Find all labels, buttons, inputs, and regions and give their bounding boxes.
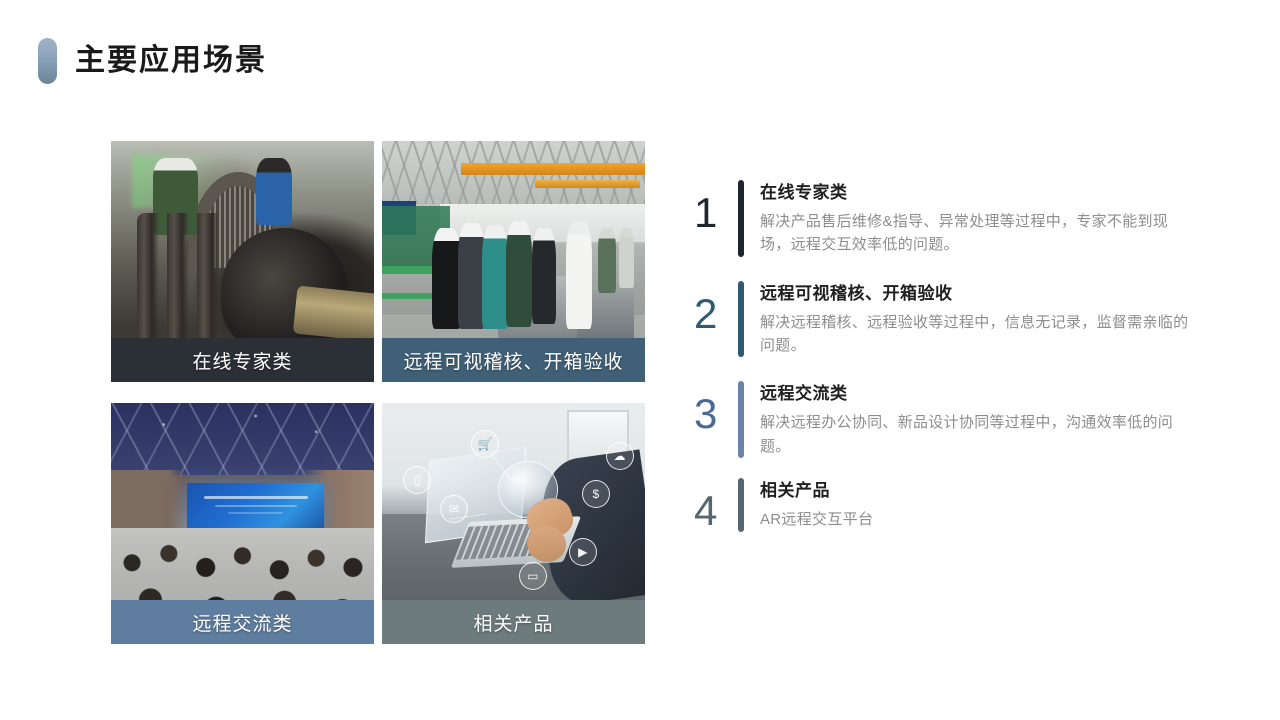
scenario-tile-grid: 在线专家类 xyxy=(111,141,645,644)
phone-icon: ▯ xyxy=(403,466,431,494)
list-title-4: 相关产品 xyxy=(760,480,1214,502)
list-desc-3: 解决远程办公协同、新品设计协同等过程中，沟通效率低的问题。 xyxy=(760,411,1190,458)
list-title-1: 在线专家类 xyxy=(760,182,1214,204)
worker-figure xyxy=(256,158,293,225)
hall-ceiling xyxy=(111,403,374,475)
list-title-3: 远程交流类 xyxy=(760,383,1214,405)
scenario-tile-2[interactable]: 远程可视稽核、开箱验收 xyxy=(382,141,645,382)
list-number-1: 1 xyxy=(694,180,738,234)
cloud-icon: ☁ xyxy=(606,442,634,470)
list-desc-1: 解决产品售后维修&指导、异常处理等过程中，专家不能到现场，远程交互效率低的问题。 xyxy=(760,210,1190,257)
list-accent-bar-2 xyxy=(738,281,744,358)
page-title: 主要应用场景 xyxy=(75,46,267,76)
list-number-3: 3 xyxy=(694,381,738,435)
list-number-2: 2 xyxy=(694,281,738,335)
tile-caption-4: 相关产品 xyxy=(382,600,645,644)
list-accent-bar-3 xyxy=(738,381,744,458)
tile-caption-3: 远程交流类 xyxy=(111,600,374,644)
list-item-1: 1 在线专家类 解决产品售后维修&指导、异常处理等过程中，专家不能到现场，远程交… xyxy=(694,180,1214,257)
list-desc-2: 解决远程稽核、远程验收等过程中，信息无记录，监督需亲临的问题。 xyxy=(760,311,1190,358)
list-item-4: 4 相关产品 AR远程交互平台 xyxy=(694,478,1214,532)
scenario-tile-4[interactable]: 🛒 ☁ ✉ $ ▯ ▶ ▭ 相关产品 xyxy=(382,403,645,644)
worker-figure xyxy=(153,158,198,235)
page-header: 主要应用场景 xyxy=(38,38,267,84)
list-item-2: 2 远程可视稽核、开箱验收 解决远程稽核、远程验收等过程中，信息无记录，监督需亲… xyxy=(694,281,1214,358)
cart-icon: 🛒 xyxy=(471,430,499,458)
scenario-tile-1[interactable]: 在线专家类 xyxy=(111,141,374,382)
list-accent-bar-1 xyxy=(738,180,744,257)
turbine-shaft xyxy=(293,286,374,343)
dollar-icon: $ xyxy=(582,480,610,508)
list-number-4: 4 xyxy=(694,478,738,532)
mail-icon: ✉ xyxy=(440,495,468,523)
list-title-2: 远程可视稽核、开箱验收 xyxy=(760,283,1214,305)
tile-caption-1: 在线专家类 xyxy=(111,338,374,382)
play-icon: ▶ xyxy=(569,538,597,566)
list-desc-4: AR远程交互平台 xyxy=(760,508,1190,531)
tile-caption-2: 远程可视稽核、开箱验收 xyxy=(382,338,645,382)
pill-bullet-icon xyxy=(38,38,57,84)
scenario-description-list: 1 在线专家类 解决产品售后维修&指导、异常处理等过程中，专家不能到现场，远程交… xyxy=(694,180,1214,550)
list-item-3: 3 远程交流类 解决远程办公协同、新品设计协同等过程中，沟通效率低的问题。 xyxy=(694,381,1214,458)
list-accent-bar-4 xyxy=(738,478,744,532)
monitor-icon: ▭ xyxy=(519,562,547,590)
scenario-tile-3[interactable]: 远程交流类 xyxy=(111,403,374,644)
